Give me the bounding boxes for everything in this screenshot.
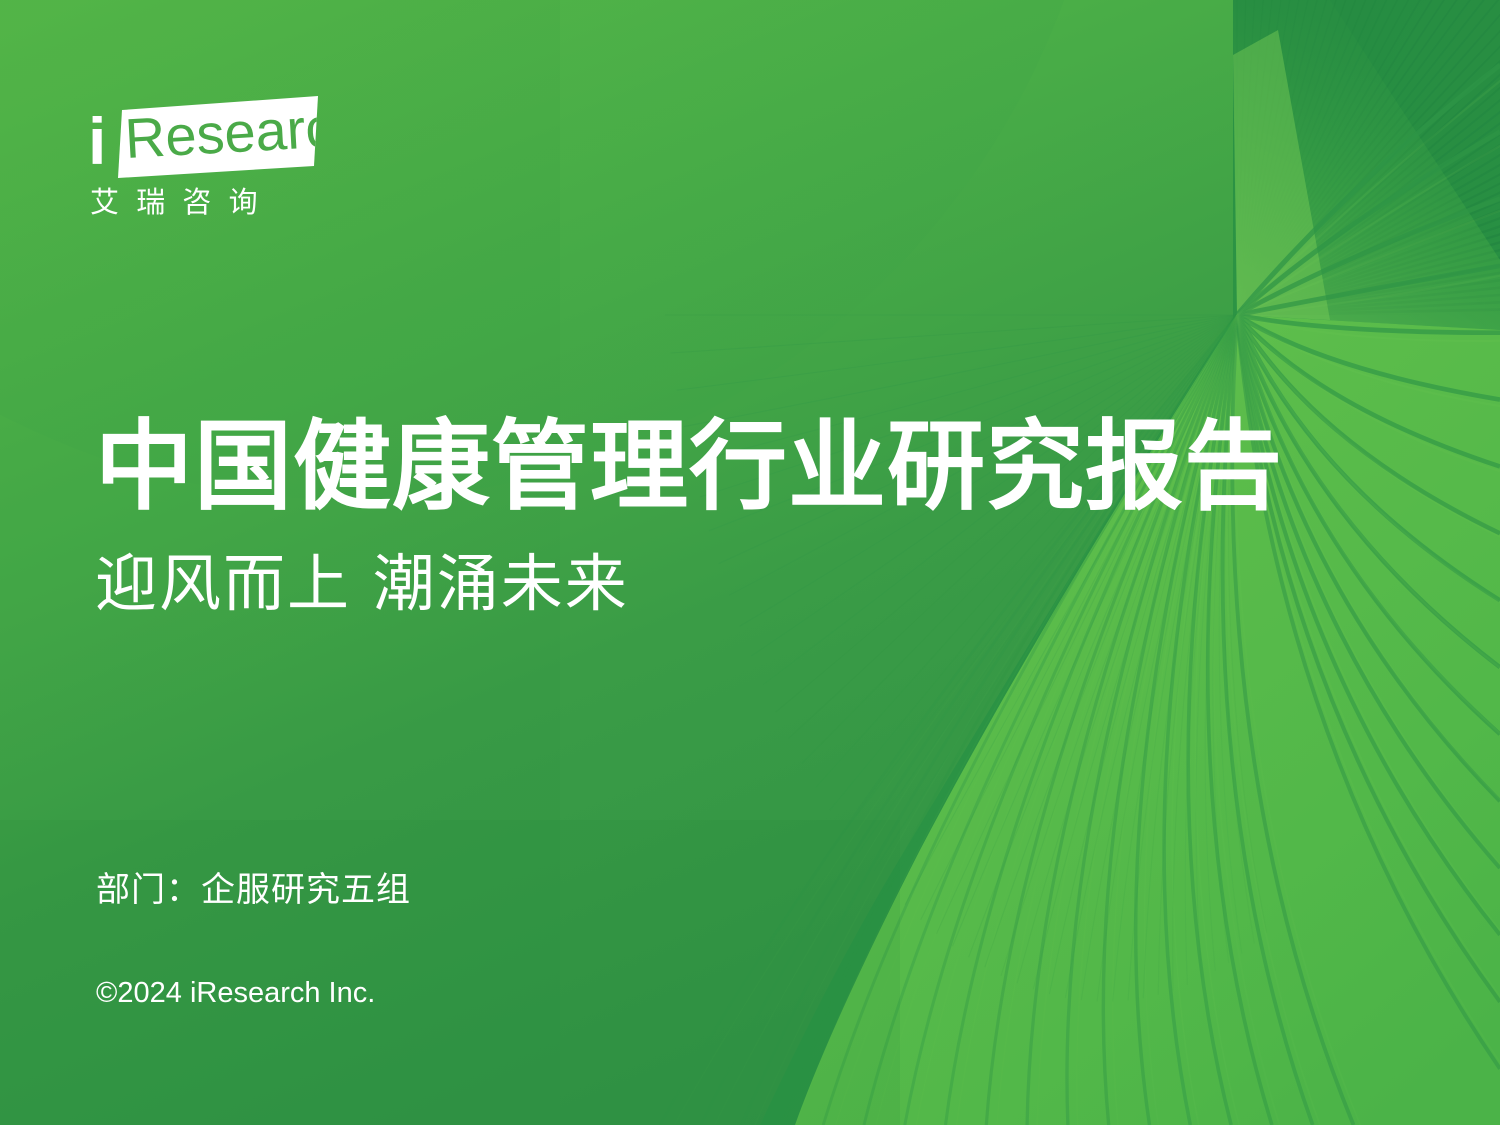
logo-chinese-wordmark: 艾 瑞 咨 询	[90, 185, 262, 219]
report-cover-slide: i Research 艾 瑞 咨 询 中国健康管理行业研究报告 迎风而上 潮涌未…	[0, 0, 1500, 1125]
iresearch-logo-icon: i Research 艾 瑞 咨 询	[86, 92, 346, 222]
department-label: 部门：企服研究五组	[96, 868, 796, 912]
footer-block: 部门：企服研究五组 ©2024 iResearch Inc.	[96, 868, 796, 1012]
title-block: 中国健康管理行业研究报告 迎风而上 潮涌未来	[95, 412, 1295, 622]
logo-word-research: Research	[123, 94, 346, 170]
page-subtitle: 迎风而上 潮涌未来	[95, 546, 1295, 622]
copyright-notice: ©2024 iResearch Inc.	[96, 974, 796, 1012]
page-title: 中国健康管理行业研究报告	[95, 412, 1295, 522]
iresearch-logo: i Research 艾 瑞 咨 询	[86, 92, 346, 222]
logo-letter-i: i	[88, 104, 106, 178]
